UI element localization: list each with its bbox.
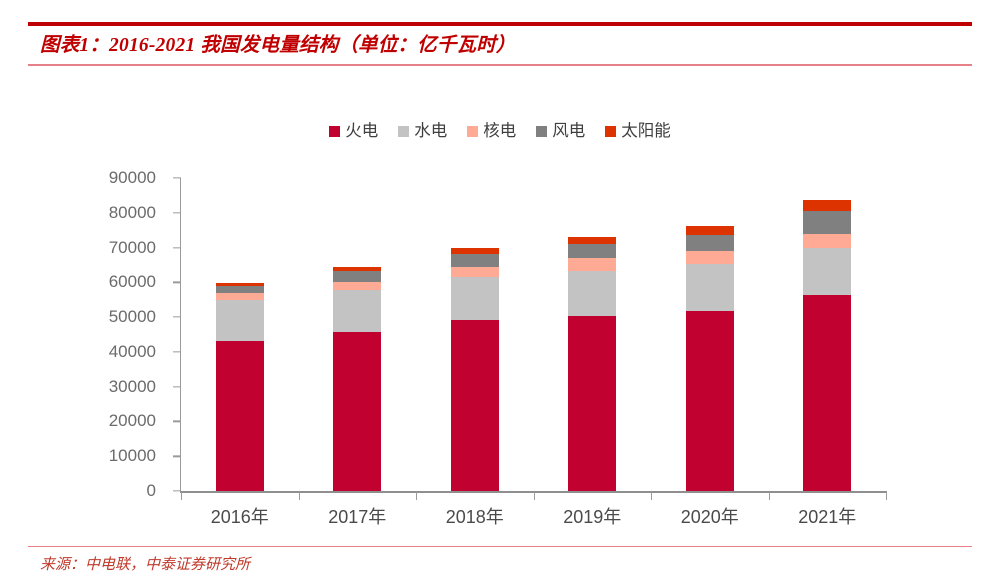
legend-swatch-icon — [605, 126, 616, 137]
bar-segment-核电[interactable] — [568, 258, 616, 270]
bar-segment-太阳能[interactable] — [686, 226, 734, 235]
y-tick-mark — [173, 282, 181, 283]
x-axis-label: 2019年 — [563, 503, 621, 529]
legend-swatch-icon — [536, 126, 547, 137]
y-tick-label: 20000 — [109, 411, 156, 431]
x-axis-label: 2016年 — [211, 503, 269, 529]
bar-segment-火电[interactable] — [803, 295, 851, 491]
bar-segment-太阳能[interactable] — [216, 283, 264, 286]
y-tick-mark — [173, 247, 181, 248]
bar-segment-水电[interactable] — [803, 248, 851, 295]
bar-segment-风电[interactable] — [216, 286, 264, 293]
y-tick-mark — [173, 212, 181, 213]
bar-segment-风电[interactable] — [451, 254, 499, 267]
bar-2019年[interactable] — [568, 237, 616, 491]
chart-page: 图表1：2016-2021 我国发电量结构（单位：亿千瓦时） 火电水电核电风电太… — [0, 0, 1000, 588]
y-tick-mark — [173, 490, 181, 491]
bar-segment-核电[interactable] — [803, 234, 851, 248]
y-tick-label: 50000 — [109, 307, 156, 327]
y-tick-mark — [173, 456, 181, 457]
source-note: 来源：中电联，中泰证券研究所 — [40, 552, 740, 578]
bar-2020年[interactable] — [686, 226, 734, 491]
bar-2021年[interactable] — [803, 200, 851, 491]
bar-segment-水电[interactable] — [568, 271, 616, 316]
bar-segment-风电[interactable] — [568, 244, 616, 258]
x-tick-mark — [651, 492, 652, 500]
bar-segment-火电[interactable] — [686, 311, 734, 491]
bar-2017年[interactable] — [333, 267, 381, 491]
legend-label: 太阳能 — [621, 121, 671, 141]
chart-legend: 火电水电核电风电太阳能 — [0, 118, 1000, 144]
y-tick-label: 80000 — [109, 203, 156, 223]
legend-swatch-icon — [467, 126, 478, 137]
bar-segment-火电[interactable] — [568, 316, 616, 491]
y-tick-mark — [173, 351, 181, 352]
x-axis-label: 2021年 — [798, 503, 856, 529]
y-tick-label: 10000 — [109, 446, 156, 466]
legend-label: 水电 — [414, 121, 447, 141]
bar-segment-水电[interactable] — [686, 264, 734, 311]
bar-segment-风电[interactable] — [333, 271, 381, 281]
bar-segment-风电[interactable] — [686, 235, 734, 251]
chart-canvas: 0100002000030000400005000060000700008000… — [0, 150, 1000, 545]
bar-segment-水电[interactable] — [451, 277, 499, 320]
x-tick-mark — [416, 492, 417, 500]
y-tick-mark — [173, 316, 181, 317]
y-tick-mark — [173, 386, 181, 387]
x-tick-mark — [181, 492, 182, 500]
legend-item-火电[interactable]: 火电 — [329, 121, 378, 141]
y-tick-label: 90000 — [109, 168, 156, 188]
y-tick-label: 60000 — [109, 272, 156, 292]
bar-segment-风电[interactable] — [803, 211, 851, 234]
x-tick-mark — [886, 492, 887, 500]
legend-label: 核电 — [483, 121, 516, 141]
bar-segment-太阳能[interactable] — [803, 200, 851, 211]
bar-segment-水电[interactable] — [216, 300, 264, 341]
y-tick-label: 30000 — [109, 377, 156, 397]
bar-segment-核电[interactable] — [333, 282, 381, 291]
legend-item-风电[interactable]: 风电 — [536, 121, 585, 141]
bar-segment-核电[interactable] — [451, 267, 499, 277]
plot-area — [181, 178, 886, 491]
footer-rule — [28, 546, 972, 547]
x-axis-label: 2020年 — [681, 503, 739, 529]
title-bottom-rule — [28, 64, 972, 66]
legend-swatch-icon — [329, 126, 340, 137]
bar-segment-火电[interactable] — [451, 320, 499, 491]
y-tick-mark — [173, 421, 181, 422]
y-tick-label: 70000 — [109, 238, 156, 258]
legend-item-核电[interactable]: 核电 — [467, 121, 516, 141]
bar-2018年[interactable] — [451, 248, 499, 491]
x-tick-mark — [299, 492, 300, 500]
bar-2016年[interactable] — [216, 283, 264, 491]
bar-segment-水电[interactable] — [333, 290, 381, 331]
y-tick-label: 40000 — [109, 342, 156, 362]
bar-segment-火电[interactable] — [216, 341, 264, 491]
page-title: 图表1：2016-2021 我国发电量结构（单位：亿千瓦时） — [40, 30, 960, 62]
bar-segment-太阳能[interactable] — [333, 267, 381, 271]
bar-segment-火电[interactable] — [333, 332, 381, 491]
x-tick-mark — [534, 492, 535, 500]
legend-item-水电[interactable]: 水电 — [398, 121, 447, 141]
x-axis-label: 2018年 — [446, 503, 504, 529]
bar-segment-太阳能[interactable] — [451, 248, 499, 254]
x-tick-mark — [769, 492, 770, 500]
legend-swatch-icon — [398, 126, 409, 137]
legend-item-太阳能[interactable]: 太阳能 — [605, 121, 671, 141]
title-top-rule — [28, 22, 972, 26]
y-tick-label: 0 — [147, 481, 156, 501]
bar-segment-太阳能[interactable] — [568, 237, 616, 245]
y-tick-mark — [173, 177, 181, 178]
bar-segment-核电[interactable] — [216, 293, 264, 300]
bar-segment-核电[interactable] — [686, 251, 734, 264]
legend-label: 火电 — [345, 121, 378, 141]
x-axis-label: 2017年 — [328, 503, 386, 529]
legend-label: 风电 — [552, 121, 585, 141]
